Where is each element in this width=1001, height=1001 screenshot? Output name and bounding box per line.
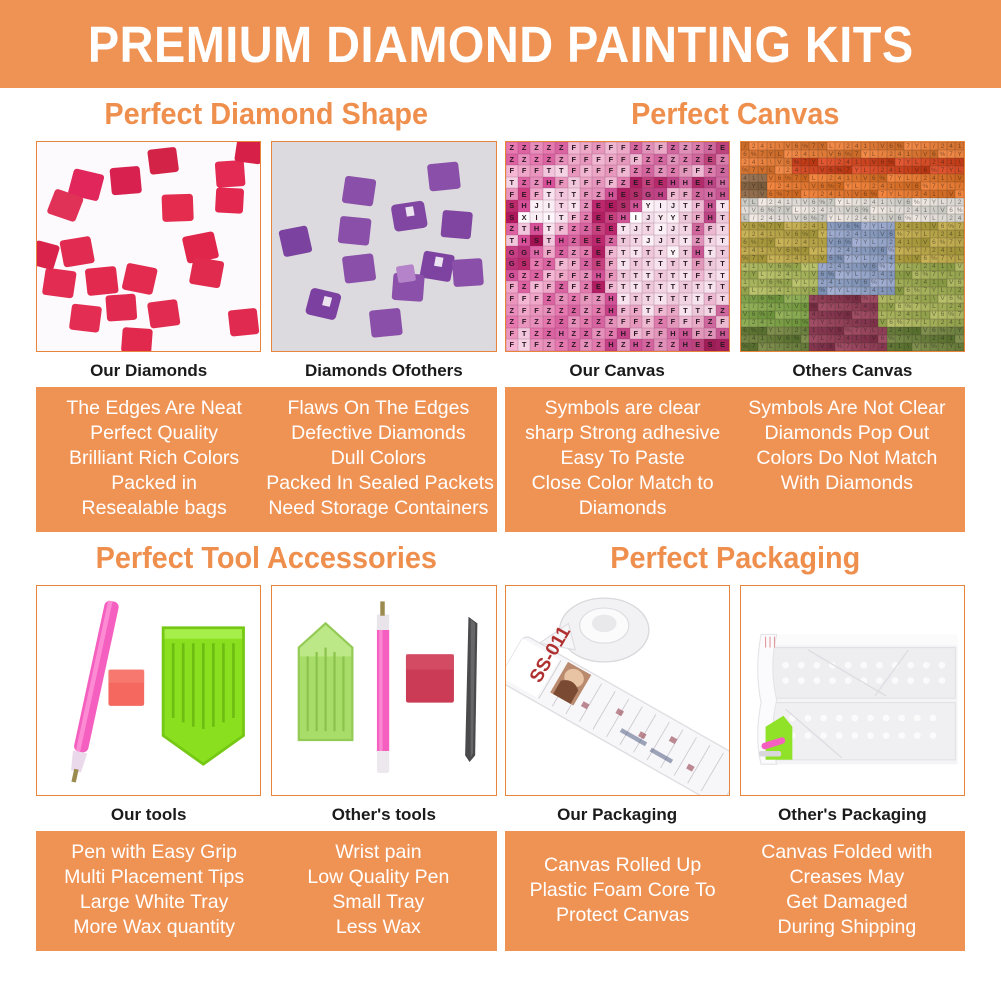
canvas-symbol-cell: Z: [580, 223, 592, 235]
muddy-canvas-cell: 2: [955, 287, 964, 295]
canvas-symbol-cell: Z: [667, 339, 679, 351]
muddy-canvas-cell: 4: [870, 198, 879, 206]
canvas-symbol-cell: T: [642, 270, 654, 282]
muddy-canvas-cell: \: [947, 263, 956, 271]
muddy-canvas-cell: 7: [818, 214, 827, 222]
muddy-canvas-cell: V: [878, 230, 887, 238]
muddy-canvas-cell: 7: [930, 271, 939, 279]
muddy-canvas-cell: Y: [938, 271, 947, 279]
muddy-canvas-cell: 1: [861, 319, 870, 327]
muddy-canvas-cell: \: [921, 311, 930, 319]
muddy-canvas-cell: 1: [792, 182, 801, 190]
canvas-symbol-cell: F: [580, 142, 592, 154]
canvas-symbol-cell: H: [654, 188, 666, 200]
canvas-symbol-cell: T: [642, 223, 654, 235]
muddy-canvas-cell: 6: [741, 238, 750, 246]
muddy-canvas-cell: 7: [904, 230, 913, 238]
canvas-symbol-cell: F: [692, 316, 704, 328]
canvas-symbol-cell: F: [568, 270, 580, 282]
canvas-symbol-cell: I: [543, 200, 555, 212]
muddy-canvas-cell: /: [895, 206, 904, 214]
muddy-canvas-cell: 7: [749, 166, 758, 174]
canvas-symbol-cell: J: [642, 235, 654, 247]
canvas-symbol-cell: Z: [555, 246, 567, 258]
muddy-canvas-cell: 7: [827, 198, 836, 206]
muddy-canvas-grid: /241\V6%7YL/241\V6%7YL/2416%7YL/241\V6%7…: [741, 142, 964, 351]
muddy-canvas-cell: \: [767, 335, 776, 343]
muddy-canvas-cell: 7: [852, 150, 861, 158]
muddy-canvas-cell: 2: [792, 238, 801, 246]
info-line: Multi Placement Tips: [42, 865, 266, 890]
canvas-symbol-cell: Z: [592, 339, 604, 351]
muddy-canvas-cell: L: [784, 311, 793, 319]
canvas-symbol-cell: H: [605, 305, 617, 317]
section-tool-accessories: Perfect Tool Accessories: [36, 532, 501, 951]
muddy-canvas-cell: \: [895, 182, 904, 190]
muddy-canvas-cell: %: [870, 279, 879, 287]
canvas-symbol-cell: I: [630, 212, 642, 224]
canvas-symbol-cell: Z: [630, 142, 642, 154]
canvas-symbol-cell: F: [530, 293, 542, 305]
muddy-canvas-cell: \: [861, 158, 870, 166]
muddy-canvas-cell: L: [784, 222, 793, 230]
canvas-symbol-cell: Z: [642, 165, 654, 177]
canvas-symbol-cell: T: [667, 235, 679, 247]
muddy-canvas-cell: 6: [930, 327, 939, 335]
canvas-symbol-cell: T: [506, 177, 518, 189]
canvas-symbol-cell: F: [630, 154, 642, 166]
canvas-symbol-cell: Z: [580, 305, 592, 317]
our-packaging-artwork: SS-011: [506, 586, 729, 795]
muddy-canvas-cell: 1: [938, 174, 947, 182]
muddy-canvas-cell: \: [878, 303, 887, 311]
muddy-canvas-cell: 6: [775, 174, 784, 182]
canvas-symbol-cell: T: [518, 339, 530, 351]
muddy-canvas-cell: 6: [887, 230, 896, 238]
muddy-canvas-cell: 4: [895, 327, 904, 335]
muddy-canvas-cell: \: [938, 190, 947, 198]
muddy-canvas-cell: 7: [801, 335, 810, 343]
muddy-canvas-cell: \: [912, 327, 921, 335]
canvas-symbol-cell: T: [716, 246, 728, 258]
canvas-symbol-cell: T: [642, 258, 654, 270]
canvas-symbol-cell: F: [592, 154, 604, 166]
muddy-canvas-cell: \: [749, 190, 758, 198]
muddy-canvas-cell: 1: [827, 295, 836, 303]
muddy-canvas-cell: \: [801, 182, 810, 190]
muddy-canvas-cell: Y: [775, 222, 784, 230]
canvas-symbol-cell: Z: [568, 305, 580, 317]
muddy-canvas-cell: 7: [784, 279, 793, 287]
canvas-symbol-cell: Z: [580, 258, 592, 270]
muddy-canvas-cell: 4: [844, 247, 853, 255]
muddy-canvas-cell: Y: [818, 230, 827, 238]
muddy-canvas-cell: 7: [818, 303, 827, 311]
muddy-canvas-cell: 1: [775, 214, 784, 222]
muddy-canvas-cell: 7: [741, 271, 750, 279]
canvas-symbol-cell: F: [679, 188, 691, 200]
muddy-canvas-cell: L: [801, 190, 810, 198]
muddy-canvas-cell: Y: [887, 190, 896, 198]
muddy-canvas-cell: \: [741, 295, 750, 303]
muddy-canvas-cell: L: [947, 182, 956, 190]
muddy-canvas-cell: %: [887, 335, 896, 343]
muddy-canvas-cell: Y: [904, 158, 913, 166]
muddy-canvas-cell: 2: [878, 166, 887, 174]
muddy-canvas-cell: Y: [912, 230, 921, 238]
muddy-canvas-cell: L: [904, 263, 913, 271]
muddy-canvas-cell: V: [809, 182, 818, 190]
muddy-canvas-cell: 7: [749, 255, 758, 263]
muddy-canvas-cell: Y: [818, 142, 827, 150]
canvas-symbol-cell: H: [543, 177, 555, 189]
canvas-symbol-cell: F: [605, 165, 617, 177]
canvas-symbol-cell: E: [716, 339, 728, 351]
canvas-symbol-cell: T: [704, 281, 716, 293]
cell-our-diamonds: Our Diamonds: [36, 141, 261, 387]
muddy-canvas-cell: 6: [912, 271, 921, 279]
muddy-canvas-cell: 6: [784, 158, 793, 166]
muddy-canvas-cell: 4: [955, 303, 964, 311]
muddy-canvas-cell: \: [921, 222, 930, 230]
canvas-symbol-cell: T: [642, 293, 654, 305]
canvas-symbol-cell: J: [630, 223, 642, 235]
canvas-symbol-cell: F: [580, 177, 592, 189]
muddy-canvas-cell: \: [758, 174, 767, 182]
muddy-canvas-cell: L: [827, 319, 836, 327]
muddy-canvas-cell: 1: [758, 158, 767, 166]
page-header: PREMIUM DIAMOND PAINTING KITS: [0, 0, 1001, 88]
muddy-canvas-cell: /: [784, 150, 793, 158]
canvas-symbol-cell: Z: [592, 293, 604, 305]
canvas-symbol-cell: T: [679, 223, 691, 235]
muddy-canvas-cell: 4: [818, 295, 827, 303]
muddy-canvas-cell: 2: [758, 214, 767, 222]
muddy-canvas-cell: V: [758, 190, 767, 198]
muddy-canvas-cell: 2: [801, 311, 810, 319]
section-packaging: Perfect Packaging: [501, 532, 966, 951]
muddy-canvas-cell: L: [767, 166, 776, 174]
band-lower: Perfect Tool Accessories: [0, 532, 1001, 951]
muddy-canvas-cell: 4: [930, 174, 939, 182]
muddy-canvas-cell: Y: [818, 319, 827, 327]
muddy-canvas-cell: Y: [767, 150, 776, 158]
muddy-canvas-cell: 7: [870, 295, 879, 303]
muddy-canvas-cell: 1: [835, 190, 844, 198]
infobox-canvas-left: Symbols are clear sharp Strong adhesive …: [511, 396, 735, 521]
muddy-canvas-cell: 6: [921, 255, 930, 263]
canvas-symbol-cell: Z: [580, 281, 592, 293]
canvas-symbol-cell: F: [630, 316, 642, 328]
muddy-canvas-cell: V: [818, 166, 827, 174]
muddy-canvas-cell: \: [741, 206, 750, 214]
muddy-canvas-cell: /: [930, 230, 939, 238]
muddy-canvas-cell: V: [818, 255, 827, 263]
muddy-canvas-cell: %: [767, 295, 776, 303]
canvas-symbol-cell: T: [679, 258, 691, 270]
muddy-canvas-cell: 7: [895, 158, 904, 166]
muddy-canvas-cell: 7: [792, 174, 801, 182]
canvas-symbol-cell: T: [630, 293, 642, 305]
infobox-diamond-shape: The Edges Are Neat Perfect Quality Brill…: [36, 387, 497, 532]
canvas-symbol-cell: T: [555, 200, 567, 212]
muddy-canvas-cell: 4: [844, 335, 853, 343]
muddy-canvas-cell: \: [947, 174, 956, 182]
canvas-symbol-cell: Z: [704, 316, 716, 328]
canvas-symbol-cell: F: [667, 188, 679, 200]
muddy-canvas-cell: V: [775, 247, 784, 255]
muddy-canvas-cell: L: [912, 158, 921, 166]
muddy-canvas-cell: Y: [887, 279, 896, 287]
muddy-canvas-cell: 4: [870, 287, 879, 295]
muddy-canvas-cell: Y: [912, 142, 921, 150]
canvas-symbol-cell: Z: [568, 339, 580, 351]
muddy-canvas-cell: 2: [912, 190, 921, 198]
muddy-canvas-cell: 4: [827, 279, 836, 287]
canvas-symbol-cell: E: [630, 177, 642, 189]
muddy-canvas-cell: 2: [749, 230, 758, 238]
muddy-canvas-cell: \: [775, 142, 784, 150]
muddy-canvas-cell: 1: [921, 295, 930, 303]
muddy-canvas-cell: %: [887, 158, 896, 166]
muddy-canvas-cell: %: [930, 343, 939, 351]
canvas-symbol-cell: Z: [530, 177, 542, 189]
canvas-symbol-cell: T: [704, 258, 716, 270]
muddy-canvas-cell: 4: [887, 255, 896, 263]
muddy-canvas-cell: 1: [835, 279, 844, 287]
muddy-canvas-cell: V: [870, 158, 879, 166]
bubble-mailer-icon: [757, 634, 957, 764]
muddy-canvas-cell: 6: [827, 255, 836, 263]
canvas-symbol-cell: F: [692, 212, 704, 224]
canvas-symbol-cell: Z: [543, 305, 555, 317]
canvas-symbol-cell: T: [617, 258, 629, 270]
muddy-canvas-cell: 4: [749, 158, 758, 166]
muddy-canvas-cell: 6: [767, 190, 776, 198]
muddy-canvas-cell: 1: [938, 263, 947, 271]
muddy-canvas-cell: 1: [852, 247, 861, 255]
canvas-symbol-cell: Z: [716, 154, 728, 166]
canvas-symbol-cell: J: [530, 200, 542, 212]
info-line: Symbols Are Not Clear: [735, 396, 959, 421]
canvas-symbol-cell: F: [506, 281, 518, 293]
canvas-symbol-cell: Z: [592, 328, 604, 340]
muddy-canvas-cell: 7: [938, 166, 947, 174]
canvas-symbol-cell: Z: [605, 316, 617, 328]
muddy-canvas-cell: V: [835, 222, 844, 230]
muddy-canvas-cell: 2: [775, 271, 784, 279]
muddy-canvas-cell: %: [792, 158, 801, 166]
muddy-canvas-cell: 1: [818, 222, 827, 230]
muddy-canvas-cell: /: [801, 295, 810, 303]
muddy-canvas-cell: 1: [809, 327, 818, 335]
canvas-symbol-cell: E: [704, 154, 716, 166]
muddy-canvas-cell: 1: [895, 255, 904, 263]
canvas-symbol-cell: T: [630, 246, 642, 258]
infobox-diamond-shape-left: The Edges Are Neat Perfect Quality Brill…: [42, 396, 266, 521]
muddy-canvas-cell: %: [784, 174, 793, 182]
canvas-symbol-cell: Z: [654, 165, 666, 177]
muddy-canvas-cell: /: [818, 263, 827, 271]
muddy-canvas-cell: 4: [904, 222, 913, 230]
muddy-canvas-cell: 1: [955, 142, 964, 150]
muddy-canvas-cell: Y: [835, 287, 844, 295]
muddy-canvas-cell: 1: [801, 343, 810, 351]
canvas-symbol-cell: Z: [580, 316, 592, 328]
muddy-canvas-cell: 2: [938, 230, 947, 238]
muddy-canvas-cell: 1: [895, 166, 904, 174]
muddy-canvas-cell: 7: [835, 182, 844, 190]
canvas-symbol-cell: H: [716, 328, 728, 340]
muddy-canvas-cell: 1: [921, 206, 930, 214]
canvas-symbol-cell: T: [654, 246, 666, 258]
muddy-canvas-cell: 7: [809, 230, 818, 238]
canvas-symbol-cell: T: [642, 281, 654, 293]
muddy-canvas-cell: \: [784, 303, 793, 311]
muddy-canvas-cell: 6: [861, 279, 870, 287]
muddy-canvas-cell: V: [861, 263, 870, 271]
muddy-canvas-cell: 7: [784, 190, 793, 198]
muddy-canvas-cell: 4: [801, 238, 810, 246]
muddy-canvas-cell: 7: [844, 255, 853, 263]
canvas-symbol-cell: Z: [692, 142, 704, 154]
muddy-canvas-cell: 7: [758, 238, 767, 246]
muddy-canvas-cell: 2: [784, 343, 793, 351]
muddy-canvas-cell: %: [818, 287, 827, 295]
canvas-symbol-cell: F: [506, 293, 518, 305]
info-line: Brilliant Rich Colors: [42, 446, 266, 471]
muddy-canvas-cell: Y: [921, 214, 930, 222]
info-line: Easy To Paste: [511, 446, 735, 471]
info-line: Wrist pain: [266, 840, 490, 865]
canvas-symbol-cell: F: [530, 339, 542, 351]
muddy-canvas-cell: Y: [947, 255, 956, 263]
muddy-canvas-cell: Y: [758, 166, 767, 174]
other-tools-artwork: [272, 586, 495, 795]
muddy-canvas-cell: 7: [878, 190, 887, 198]
canvas-symbol-cell: H: [704, 200, 716, 212]
muddy-canvas-cell: 1: [758, 247, 767, 255]
muddy-canvas-cell: 6: [784, 335, 793, 343]
muddy-canvas-cell: Y: [784, 206, 793, 214]
muddy-canvas-cell: 7: [904, 319, 913, 327]
canvas-symbol-cell: T: [679, 293, 691, 305]
muddy-canvas-cell: Y: [792, 279, 801, 287]
muddy-canvas-cell: 7: [947, 150, 956, 158]
muddy-canvas-cell: /: [930, 142, 939, 150]
canvas-symbol-cell: F: [654, 305, 666, 317]
image-other-diamonds: [271, 141, 496, 352]
canvas-symbol-cell: F: [530, 281, 542, 293]
canvas-symbol-cell: H: [518, 200, 530, 212]
muddy-canvas-cell: 6: [801, 303, 810, 311]
muddy-canvas-cell: 2: [938, 142, 947, 150]
muddy-canvas-cell: 2: [741, 335, 750, 343]
muddy-canvas-cell: /: [775, 166, 784, 174]
canvas-symbol-cell: Z: [580, 339, 592, 351]
muddy-canvas-cell: 1: [852, 158, 861, 166]
muddy-canvas-cell: Y: [912, 319, 921, 327]
muddy-canvas-cell: %: [844, 150, 853, 158]
canvas-symbol-cell: H: [679, 339, 691, 351]
canvas-symbol-cell: F: [543, 246, 555, 258]
muddy-canvas-cell: V: [930, 311, 939, 319]
infobox-canvas-right: Symbols Are Not Clear Diamonds Pop Out C…: [735, 396, 959, 521]
muddy-canvas-cell: Y: [861, 150, 870, 158]
muddy-canvas-cell: /: [904, 279, 913, 287]
canvas-symbol-cell: Z: [679, 142, 691, 154]
muddy-canvas-cell: V: [784, 142, 793, 150]
canvas-symbol-cell: Z: [605, 328, 617, 340]
muddy-canvas-cell: Y: [930, 287, 939, 295]
canvas-symbol-cell: H: [679, 177, 691, 189]
muddy-canvas-cell: Y: [809, 335, 818, 343]
muddy-canvas-cell: 1: [775, 303, 784, 311]
muddy-canvas-cell: 6: [930, 238, 939, 246]
canvas-symbol-cell: E: [605, 200, 617, 212]
muddy-canvas-cell: 1: [801, 255, 810, 263]
canvas-symbol-cell: H: [667, 328, 679, 340]
muddy-canvas-cell: %: [758, 311, 767, 319]
muddy-canvas-cell: V: [904, 182, 913, 190]
muddy-canvas-cell: 4: [792, 255, 801, 263]
info-line: Close Color Match to: [511, 471, 735, 496]
infobox-tools-left: Pen with Easy Grip Multi Placement Tips …: [42, 840, 266, 940]
muddy-canvas-cell: V: [827, 238, 836, 246]
canvas-symbol-cell: Z: [530, 270, 542, 282]
info-line: Need Storage Containers: [266, 496, 490, 521]
canvas-symbol-cell: T: [692, 293, 704, 305]
muddy-canvas-cell: V: [887, 303, 896, 311]
muddy-canvas-cell: 4: [844, 158, 853, 166]
canvas-symbol-cell: T: [716, 258, 728, 270]
canvas-symbol-cell: T: [518, 328, 530, 340]
canvas-symbol-cell: F: [530, 188, 542, 200]
muddy-canvas-cell: V: [809, 271, 818, 279]
muddy-canvas-cell: 1: [955, 230, 964, 238]
muddy-canvas-cell: 7: [852, 327, 861, 335]
muddy-canvas-cell: Y: [844, 271, 853, 279]
muddy-canvas-cell: %: [792, 247, 801, 255]
muddy-canvas-cell: /: [835, 142, 844, 150]
muddy-canvas-cell: %: [887, 247, 896, 255]
muddy-canvas-cell: Y: [904, 335, 913, 343]
muddy-canvas-cell: L: [792, 295, 801, 303]
canvas-symbol-cell: F: [679, 316, 691, 328]
canvas-symbol-cell: T: [704, 235, 716, 247]
muddy-canvas-cell: /: [921, 158, 930, 166]
muddy-canvas-cell: %: [852, 311, 861, 319]
muddy-canvas-cell: Y: [861, 238, 870, 246]
canvas-symbol-cell: J: [642, 212, 654, 224]
our-tools-svg: [37, 586, 260, 795]
canvas-symbol-cell: F: [530, 165, 542, 177]
muddy-canvas-cell: 2: [827, 174, 836, 182]
muddy-canvas-cell: L: [955, 166, 964, 174]
canvas-symbol-cell: T: [654, 270, 666, 282]
info-line: Perfect Quality: [42, 421, 266, 446]
muddy-canvas-cell: L: [861, 343, 870, 351]
muddy-canvas-cell: Y: [767, 327, 776, 335]
muddy-canvas-cell: /: [870, 343, 879, 351]
info-line: Get Damaged: [735, 890, 959, 915]
canvas-symbol-cell: E: [592, 281, 604, 293]
muddy-canvas-cell: \: [930, 206, 939, 214]
canvas-symbol-cell: T: [679, 235, 691, 247]
canvas-symbol-cell: G: [506, 258, 518, 270]
muddy-canvas-cell: 6: [749, 222, 758, 230]
canvas-symbol-cell: Z: [580, 200, 592, 212]
